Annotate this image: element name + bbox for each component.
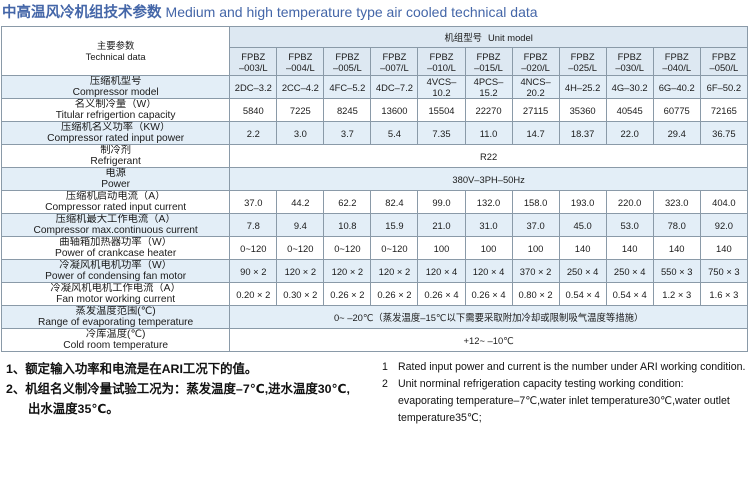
data-cell: 0.20 × 2 — [230, 283, 277, 306]
row-label-en: Range of evaporating temperature — [2, 317, 229, 328]
row-label-cell: 名义制冷量（W）Titular refrigertion capacity — [2, 99, 230, 122]
model-column-header: FPBZ–015/L — [465, 48, 512, 76]
data-cell: 0.26 × 4 — [418, 283, 465, 306]
page-title-en: Medium and high temperature type air coo… — [166, 4, 538, 20]
table-row: 电源Power380V–3PH–50Hz — [2, 168, 748, 191]
table-row: 压缩机型号Compressor model2DC–3.22CC–4.24FC–5… — [2, 76, 748, 99]
param-header-cell: 主要参数Technical data — [2, 27, 230, 76]
row-label-cn: 压缩机名义功率（KW） — [2, 122, 229, 133]
data-cell: 6F–50.2 — [700, 76, 747, 99]
page-title: 中高温风冷机组技术参数 Medium and high temperature … — [0, 0, 749, 26]
model-name-line1: FPBZ — [701, 51, 747, 62]
footnote-cn-text: 额定输入功率和电流是在ARI工况下的值。 — [25, 362, 257, 376]
model-name-line2: –005/L — [324, 62, 370, 73]
row-label-cell: 电源Power — [2, 168, 230, 191]
data-cell: 4VCS–10.2 — [418, 76, 465, 99]
footnote-cn-continuation: 出水温度35℃。 — [6, 399, 382, 419]
model-header-en: Unit model — [488, 32, 533, 43]
data-cell: 62.2 — [324, 191, 371, 214]
data-cell: 2CC–4.2 — [277, 76, 324, 99]
data-cell: 120 × 2 — [277, 260, 324, 283]
data-cell: 4DC–7.2 — [371, 76, 418, 99]
data-cell: 193.0 — [559, 191, 606, 214]
data-cell: 0~120 — [371, 237, 418, 260]
data-cell: 132.0 — [465, 191, 512, 214]
footnote-cn-item: 2、机组名义制冷量试验工况为：蒸发温度–7℃,进水温度30℃, — [6, 379, 382, 399]
row-label-cn: 压缩机型号 — [2, 76, 229, 87]
row-label-cn: 压缩机启动电流（A） — [2, 191, 229, 202]
data-cell: 4NCS–20.2 — [512, 76, 559, 99]
model-name-line1: FPBZ — [324, 51, 370, 62]
row-label-cell: 压缩机启动电流（A）Compressor rated input current — [2, 191, 230, 214]
param-header-en: Technical data — [2, 51, 229, 62]
row-label-en: Compressor model — [2, 87, 229, 98]
data-cell: 140 — [559, 237, 606, 260]
data-cell: 550 × 3 — [653, 260, 700, 283]
footnote-en-continuation: temperature35℃; — [382, 410, 749, 427]
model-name-line2: –007/L — [371, 62, 417, 73]
model-column-header: FPBZ–020/L — [512, 48, 559, 76]
footnote-cn-number: 2、 — [6, 382, 25, 396]
data-cell: 100 — [418, 237, 465, 260]
data-cell: 7.35 — [418, 122, 465, 145]
row-label-cn: 电源 — [2, 168, 229, 179]
footnote-en-continuation: evaporating temperature–7℃,water inlet t… — [382, 393, 749, 410]
model-header-cn: 机组型号 — [444, 32, 482, 43]
data-cell: 9.4 — [277, 214, 324, 237]
model-column-header: FPBZ–040/L — [653, 48, 700, 76]
data-cell: 1.6 × 3 — [700, 283, 747, 306]
data-cell: 18.37 — [559, 122, 606, 145]
data-cell: 750 × 3 — [700, 260, 747, 283]
row-label-cell: 冷凝风机电机工作电流（A）Fan motor working current — [2, 283, 230, 306]
data-cell: 0~120 — [324, 237, 371, 260]
data-cell: 323.0 — [653, 191, 700, 214]
data-cell: 120 × 4 — [418, 260, 465, 283]
model-column-header: FPBZ–030/L — [606, 48, 653, 76]
data-cell: 10.8 — [324, 214, 371, 237]
model-name-line2: –003/L — [230, 62, 276, 73]
data-cell: 37.0 — [512, 214, 559, 237]
row-label-en: Power of crankcase heater — [2, 248, 229, 259]
row-label-cell: 冷库温度(℃)Cold room temperature — [2, 329, 230, 352]
model-name-line1: FPBZ — [277, 51, 323, 62]
row-label-en: Refrigerant — [2, 156, 229, 167]
data-cell: 60775 — [653, 99, 700, 122]
data-cell: 92.0 — [700, 214, 747, 237]
table-row: 冷库温度(℃)Cold room temperature+12~ –10℃ — [2, 329, 748, 352]
table-row: 冷凝风机电机功率（W）Power of condensing fan motor… — [2, 260, 748, 283]
footnote-cn-number: 1、 — [6, 362, 25, 376]
table-row: 压缩机最大工作电流（A）Compressor max.continuous cu… — [2, 214, 748, 237]
data-cell: 53.0 — [606, 214, 653, 237]
model-column-header: FPBZ–050/L — [700, 48, 747, 76]
model-name-line1: FPBZ — [418, 51, 464, 62]
model-name-line1: FPBZ — [654, 51, 700, 62]
row-label-en: Compressor rated input current — [2, 202, 229, 213]
footnote-en-text: Rated input power and current is the num… — [398, 359, 745, 376]
row-label-cn: 冷库温度(℃) — [2, 329, 229, 340]
model-name-line1: FPBZ — [607, 51, 653, 62]
row-label-en: Titular refrigertion capacity — [2, 110, 229, 121]
page-root: 中高温风冷机组技术参数 Medium and high temperature … — [0, 0, 749, 480]
model-column-header: FPBZ–007/L — [371, 48, 418, 76]
data-cell: 37.0 — [230, 191, 277, 214]
row-label-cn: 冷凝风机电机功率（W） — [2, 260, 229, 271]
footnote-cn-text: 机组名义制冷量试验工况为：蒸发温度–7℃,进水温度30℃, — [25, 382, 350, 396]
data-cell: 4G–30.2 — [606, 76, 653, 99]
data-cell: 140 — [700, 237, 747, 260]
data-cell: 100 — [465, 237, 512, 260]
data-cell: 45.0 — [559, 214, 606, 237]
model-column-header: FPBZ–004/L — [277, 48, 324, 76]
footnote-en-item: 1Rated input power and current is the nu… — [382, 359, 749, 376]
data-cell: 250 × 4 — [606, 260, 653, 283]
row-label-cell: 曲轴箱加热器功率（W）Power of crankcase heater — [2, 237, 230, 260]
data-cell: 0.80 × 2 — [512, 283, 559, 306]
model-column-header: FPBZ–005/L — [324, 48, 371, 76]
data-cell: 29.4 — [653, 122, 700, 145]
data-cell: 5.4 — [371, 122, 418, 145]
row-label-cell: 蒸发温度范围(℃)Range of evaporating temperatur… — [2, 306, 230, 329]
row-label-cell: 压缩机名义功率（KW）Compressor rated input power — [2, 122, 230, 145]
row-label-en: Compressor rated input power — [2, 133, 229, 144]
data-cell: 2DC–3.2 — [230, 76, 277, 99]
row-label-en: Power — [2, 179, 229, 190]
data-cell: 158.0 — [512, 191, 559, 214]
row-label-cell: 制冷剂Refrigerant — [2, 145, 230, 168]
model-name-line2: –010/L — [418, 62, 464, 73]
row-label-cn: 制冷剂 — [2, 145, 229, 156]
data-cell: 0~120 — [230, 237, 277, 260]
row-label-cn: 压缩机最大工作电流（A） — [2, 214, 229, 225]
row-label-cell: 压缩机最大工作电流（A）Compressor max.continuous cu… — [2, 214, 230, 237]
footnotes-chinese: 1、额定输入功率和电流是在ARI工况下的值。2、机组名义制冷量试验工况为：蒸发温… — [0, 359, 382, 427]
model-header-cell: 机组型号Unit model — [230, 27, 748, 48]
data-cell: 3.7 — [324, 122, 371, 145]
data-cell: 35360 — [559, 99, 606, 122]
merged-value-cell: R22 — [230, 145, 748, 168]
model-name-line2: –004/L — [277, 62, 323, 73]
data-cell: 40545 — [606, 99, 653, 122]
model-name-line1: FPBZ — [371, 51, 417, 62]
data-cell: 3.0 — [277, 122, 324, 145]
data-cell: 4PCS–15.2 — [465, 76, 512, 99]
data-cell: 404.0 — [700, 191, 747, 214]
model-name-line2: –025/L — [560, 62, 606, 73]
data-cell: 14.7 — [512, 122, 559, 145]
data-cell: 90 × 2 — [230, 260, 277, 283]
data-cell: 140 — [653, 237, 700, 260]
data-cell: 22270 — [465, 99, 512, 122]
model-name-line1: FPBZ — [466, 51, 512, 62]
data-cell: 72165 — [700, 99, 747, 122]
data-cell: 120 × 2 — [324, 260, 371, 283]
data-cell: 7.8 — [230, 214, 277, 237]
footnote-en-text: Unit norminal refrigeration capacity tes… — [398, 376, 684, 393]
data-cell: 15.9 — [371, 214, 418, 237]
data-cell: 220.0 — [606, 191, 653, 214]
param-header-cn: 主要参数 — [2, 40, 229, 51]
data-cell: 4FC–5.2 — [324, 76, 371, 99]
merged-value-cell: +12~ –10℃ — [230, 329, 748, 352]
data-cell: 4H–25.2 — [559, 76, 606, 99]
data-cell: 31.0 — [465, 214, 512, 237]
model-name-line1: FPBZ — [230, 51, 276, 62]
table-body: 主要参数Technical data机组型号Unit modelFPBZ–003… — [2, 27, 748, 352]
table-row: 压缩机启动电流（A）Compressor rated input current… — [2, 191, 748, 214]
data-cell: 22.0 — [606, 122, 653, 145]
data-cell: 44.2 — [277, 191, 324, 214]
data-cell: 1.2 × 3 — [653, 283, 700, 306]
table-row: 压缩机名义功率（KW）Compressor rated input power2… — [2, 122, 748, 145]
data-cell: 0.54 × 4 — [559, 283, 606, 306]
model-column-header: FPBZ–025/L — [559, 48, 606, 76]
data-cell: 21.0 — [418, 214, 465, 237]
table-row: 名义制冷量（W）Titular refrigertion capacity584… — [2, 99, 748, 122]
model-column-header: FPBZ–010/L — [418, 48, 465, 76]
data-cell: 78.0 — [653, 214, 700, 237]
data-cell: 6G–40.2 — [653, 76, 700, 99]
data-cell: 0.26 × 2 — [371, 283, 418, 306]
data-cell: 120 × 4 — [465, 260, 512, 283]
data-cell: 0.26 × 4 — [465, 283, 512, 306]
row-label-cn: 蒸发温度范围(℃) — [2, 306, 229, 317]
merged-value-cell: 380V–3PH–50Hz — [230, 168, 748, 191]
table-row: 曲轴箱加热器功率（W）Power of crankcase heater0~12… — [2, 237, 748, 260]
row-label-en: Power of condensing fan motor — [2, 271, 229, 282]
footnote-cn-item: 1、额定输入功率和电流是在ARI工况下的值。 — [6, 359, 382, 379]
model-column-header: FPBZ–003/L — [230, 48, 277, 76]
data-cell: 140 — [606, 237, 653, 260]
data-cell: 27115 — [512, 99, 559, 122]
data-cell: 82.4 — [371, 191, 418, 214]
row-label-en: Fan motor working current — [2, 294, 229, 305]
data-cell: 15504 — [418, 99, 465, 122]
data-cell: 99.0 — [418, 191, 465, 214]
footnotes: 1、额定输入功率和电流是在ARI工况下的值。2、机组名义制冷量试验工况为：蒸发温… — [0, 359, 749, 427]
model-name-line2: –015/L — [466, 62, 512, 73]
footnote-en-number: 1 — [382, 359, 398, 376]
page-title-cn: 中高温风冷机组技术参数 — [2, 5, 162, 21]
merged-value-cell: 0~ –20℃（蒸发温度–15℃以下需要采取附加冷却或限制吸气温度等措施） — [230, 306, 748, 329]
data-cell: 13600 — [371, 99, 418, 122]
data-cell: 2.2 — [230, 122, 277, 145]
data-cell: 0.30 × 2 — [277, 283, 324, 306]
data-cell: 11.0 — [465, 122, 512, 145]
data-cell: 8245 — [324, 99, 371, 122]
data-cell: 250 × 4 — [559, 260, 606, 283]
model-name-line2: –050/L — [701, 62, 747, 73]
footnotes-english: 1Rated input power and current is the nu… — [382, 359, 749, 427]
row-label-cn: 名义制冷量（W） — [2, 99, 229, 110]
data-cell: 0.54 × 4 — [606, 283, 653, 306]
data-cell: 100 — [512, 237, 559, 260]
model-name-line2: –020/L — [513, 62, 559, 73]
data-cell: 5840 — [230, 99, 277, 122]
row-label-en: Cold room temperature — [2, 340, 229, 351]
table-header-row-1: 主要参数Technical data机组型号Unit model — [2, 27, 748, 48]
table-row: 冷凝风机电机工作电流（A）Fan motor working current0.… — [2, 283, 748, 306]
table-row: 蒸发温度范围(℃)Range of evaporating temperatur… — [2, 306, 748, 329]
data-cell: 370 × 2 — [512, 260, 559, 283]
data-cell: 0~120 — [277, 237, 324, 260]
data-cell: 36.75 — [700, 122, 747, 145]
model-name-line1: FPBZ — [513, 51, 559, 62]
row-label-cell: 压缩机型号Compressor model — [2, 76, 230, 99]
table-row: 制冷剂RefrigerantR22 — [2, 145, 748, 168]
model-name-line1: FPBZ — [560, 51, 606, 62]
data-cell: 7225 — [277, 99, 324, 122]
row-label-cell: 冷凝风机电机功率（W）Power of condensing fan motor — [2, 260, 230, 283]
row-label-en: Compressor max.continuous current — [2, 225, 229, 236]
model-name-line2: –040/L — [654, 62, 700, 73]
row-label-cn: 曲轴箱加热器功率（W） — [2, 237, 229, 248]
row-label-cn: 冷凝风机电机工作电流（A） — [2, 283, 229, 294]
model-name-line2: –030/L — [607, 62, 653, 73]
technical-data-table: 主要参数Technical data机组型号Unit modelFPBZ–003… — [1, 26, 748, 352]
footnote-en-number: 2 — [382, 376, 398, 393]
data-cell: 120 × 2 — [371, 260, 418, 283]
data-cell: 0.26 × 2 — [324, 283, 371, 306]
footnote-en-item: 2Unit norminal refrigeration capacity te… — [382, 376, 749, 393]
